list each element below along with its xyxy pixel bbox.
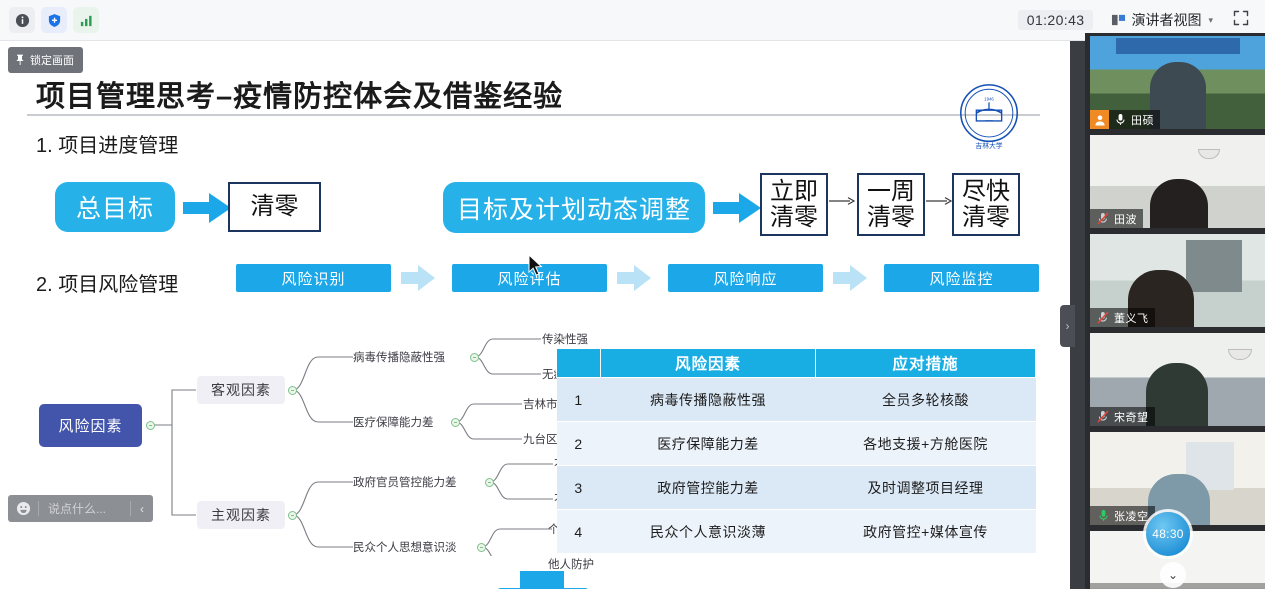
risk-table: 风险因素 应对措施 1 病毒传播隐蔽性强 全员多轮核酸 2 医疗保障能力差 各地… bbox=[556, 348, 1036, 554]
chevron-down-icon-floating[interactable]: ⌄ bbox=[1160, 562, 1186, 588]
mindmap-child-0-0[interactable]: 病毒传播隐蔽性强 bbox=[353, 349, 445, 365]
mic-off-icon bbox=[1095, 410, 1111, 423]
smiley-icon[interactable] bbox=[8, 501, 38, 516]
flow-arrow-icon-1 bbox=[617, 265, 651, 291]
participant-name-2: 董义飞 bbox=[1114, 310, 1149, 326]
table-row: 3 政府管控能力差 及时调整项目经理 bbox=[557, 466, 1036, 510]
mindmap-leaf-0-1-1[interactable]: 九台区 bbox=[523, 431, 558, 447]
participant-namebar-4: 张凌空 bbox=[1090, 506, 1155, 525]
page-title: 项目管理思考–疫情防控体会及借鉴经验 bbox=[36, 73, 563, 115]
risk-flow-chip-2: 风险响应 bbox=[668, 264, 823, 292]
table-row: 4 民众个人意识淡薄 政府管控+媒体宣传 bbox=[557, 510, 1036, 554]
goal-target-box: 清零 bbox=[228, 182, 321, 232]
table-header-index bbox=[557, 349, 601, 378]
goal-pill: 总目标 bbox=[55, 182, 175, 232]
table-row: 2 医疗保障能力差 各地支援+方舱医院 bbox=[557, 422, 1036, 466]
mindmap-leaf-1-1-1[interactable]: 他人防护 bbox=[548, 556, 594, 572]
cell-index: 3 bbox=[557, 466, 601, 510]
screen-share-meeting-window: 01:20:43 演讲者视图 ▾ 锁定画面 项目管理思考–疫情防控体会及借鉴经验 bbox=[0, 0, 1265, 589]
cell-index: 2 bbox=[557, 422, 601, 466]
stage-box-2: 尽快 清零 bbox=[952, 173, 1020, 236]
mindmap-branch-1[interactable]: 主观因素 bbox=[197, 501, 285, 529]
chat-input[interactable] bbox=[39, 502, 130, 516]
participant-tile-0[interactable]: 田硕 bbox=[1090, 36, 1265, 129]
dynamic-adjust-pill: 目标及计划动态调整 bbox=[443, 182, 705, 233]
cell-action: 政府管控+媒体宣传 bbox=[816, 510, 1036, 554]
mindmap-toggle-icon-b0[interactable] bbox=[288, 386, 297, 395]
participant-name-1: 田波 bbox=[1114, 211, 1137, 227]
mindmap-toggle-icon-c10[interactable] bbox=[485, 478, 494, 487]
cell-index: 4 bbox=[557, 510, 601, 554]
table-row: 1 病毒传播隐蔽性强 全员多轮核酸 bbox=[557, 378, 1036, 422]
participant-tile-1[interactable]: 田波 bbox=[1090, 135, 1265, 228]
flow-arrow-icon-0 bbox=[401, 265, 435, 291]
stage-box-1: 一周 清零 bbox=[857, 173, 925, 236]
mic-off-icon bbox=[1095, 212, 1111, 225]
section-heading-2: 2. 项目风险管理 bbox=[36, 268, 178, 297]
mouse-cursor bbox=[528, 254, 544, 276]
mindmap-toggle-icon-c00[interactable] bbox=[470, 353, 479, 362]
fullscreen-icon bbox=[1233, 10, 1249, 26]
presenter-view-icon bbox=[1111, 13, 1126, 27]
mindmap-child-0-1[interactable]: 医疗保障能力差 bbox=[353, 414, 434, 430]
chat-collapse-button[interactable]: ‹ bbox=[131, 502, 153, 516]
university-logo: 1946 吉林大学 bbox=[950, 81, 1028, 153]
mindmap-leaf-0-0-0[interactable]: 传染性强 bbox=[542, 331, 588, 347]
cell-risk: 民众个人意识淡薄 bbox=[601, 510, 816, 554]
participant-name-3: 宋奇望 bbox=[1114, 409, 1149, 425]
thin-arrow-icon-2 bbox=[926, 196, 953, 206]
mindmap-child-1-0[interactable]: 政府官员管控能力差 bbox=[353, 474, 457, 490]
info-icon[interactable] bbox=[9, 7, 35, 33]
participant-tile-3[interactable]: 宋奇望 bbox=[1090, 333, 1265, 426]
mindmap-root-node[interactable]: 风险因素 bbox=[39, 404, 142, 447]
view-mode-label: 演讲者视图 bbox=[1131, 10, 1201, 30]
participant-tile-2[interactable]: 董义飞 bbox=[1090, 234, 1265, 327]
mindmap-toggle-icon-b1[interactable] bbox=[288, 511, 297, 520]
chevron-down-icon: ▾ bbox=[1208, 15, 1213, 26]
participant-tile-4[interactable]: 张凌空 bbox=[1090, 432, 1265, 525]
participant-rail[interactable]: 田硕 田波 董义飞 bbox=[1085, 33, 1265, 589]
participant-namebar-3: 宋奇望 bbox=[1090, 407, 1155, 426]
shield-icon[interactable] bbox=[41, 7, 67, 33]
down-arrow-icon bbox=[487, 571, 597, 589]
flow-arrow-icon-2 bbox=[833, 265, 867, 291]
mindmap-leaf-0-1-0[interactable]: 吉林市 bbox=[523, 396, 558, 412]
title-divider bbox=[27, 114, 1040, 116]
cell-risk: 病毒传播隐蔽性强 bbox=[601, 378, 816, 422]
participant-name-0: 田硕 bbox=[1131, 112, 1154, 128]
mindmap-branch-0[interactable]: 客观因素 bbox=[197, 376, 285, 404]
shared-slide: 项目管理思考–疫情防控体会及借鉴经验 1946 吉林大学 1. 项目进度管理 2… bbox=[0, 41, 1070, 589]
view-mode-switch[interactable]: 演讲者视图 ▾ bbox=[1105, 7, 1219, 33]
thin-arrow-icon-1 bbox=[829, 196, 856, 206]
panel-collapse-button[interactable]: › bbox=[1060, 305, 1075, 347]
cell-risk: 医疗保障能力差 bbox=[601, 422, 816, 466]
participant-silhouette-3 bbox=[1146, 363, 1208, 426]
participant-name-4: 张凌空 bbox=[1114, 508, 1149, 524]
mindmap-toggle-icon-root[interactable] bbox=[146, 421, 155, 430]
toolbar-right-controls: 01:20:43 演讲者视图 ▾ bbox=[1018, 7, 1265, 33]
cell-action: 全员多轮核酸 bbox=[816, 378, 1036, 422]
table-header-risk: 风险因素 bbox=[601, 349, 816, 378]
session-timer: 01:20:43 bbox=[1018, 10, 1094, 30]
participant-namebar-1: 田波 bbox=[1090, 209, 1143, 228]
lock-screen-label: 锁定画面 bbox=[30, 52, 74, 68]
avatar bbox=[1090, 110, 1109, 129]
mindmap-child-1-1[interactable]: 民众个人思想意识淡 bbox=[353, 539, 457, 555]
participant-silhouette-1 bbox=[1150, 179, 1208, 228]
cell-risk: 政府管控能力差 bbox=[601, 466, 816, 510]
section-heading-1: 1. 项目进度管理 bbox=[36, 129, 178, 158]
top-toolbar: 01:20:43 演讲者视图 ▾ bbox=[0, 0, 1265, 41]
fullscreen-button[interactable] bbox=[1231, 8, 1251, 33]
participant-namebar-2: 董义飞 bbox=[1090, 308, 1155, 327]
fat-arrow-icon-2 bbox=[713, 193, 761, 223]
toolbar-left-icons bbox=[0, 7, 99, 33]
mic-on-icon bbox=[1095, 509, 1111, 522]
window-decor-2 bbox=[1186, 240, 1242, 292]
participant-namebar-0: 田硕 bbox=[1090, 110, 1160, 129]
pin-icon bbox=[15, 54, 25, 66]
fat-arrow-icon-1 bbox=[183, 193, 231, 223]
cell-index: 1 bbox=[557, 378, 601, 422]
cell-action: 及时调整项目经理 bbox=[816, 466, 1036, 510]
stage-box-0: 立即 清零 bbox=[760, 173, 828, 236]
cell-action: 各地支援+方舱医院 bbox=[816, 422, 1036, 466]
mic-on-icon bbox=[1112, 113, 1128, 126]
risk-flow-chip-0: 风险识别 bbox=[236, 264, 391, 292]
chat-input-bar[interactable]: ‹ bbox=[8, 495, 153, 522]
risk-flow-chip-3: 风险监控 bbox=[884, 264, 1039, 292]
table-header-action: 应对措施 bbox=[816, 349, 1036, 378]
svg-text:1946: 1946 bbox=[984, 96, 994, 101]
network-stats-icon[interactable] bbox=[73, 7, 99, 33]
speaking-timer-badge[interactable]: 48:30 bbox=[1146, 512, 1190, 556]
lock-screen-button[interactable]: 锁定画面 bbox=[8, 47, 83, 73]
mindmap-toggle-icon-c01[interactable] bbox=[451, 418, 460, 427]
video-banner-0 bbox=[1116, 38, 1240, 54]
table-header-row: 风险因素 应对措施 bbox=[557, 349, 1036, 378]
mic-off-icon bbox=[1095, 311, 1111, 324]
mindmap-toggle-icon-c11[interactable] bbox=[477, 543, 486, 552]
svg-text:吉林大学: 吉林大学 bbox=[975, 141, 1002, 150]
